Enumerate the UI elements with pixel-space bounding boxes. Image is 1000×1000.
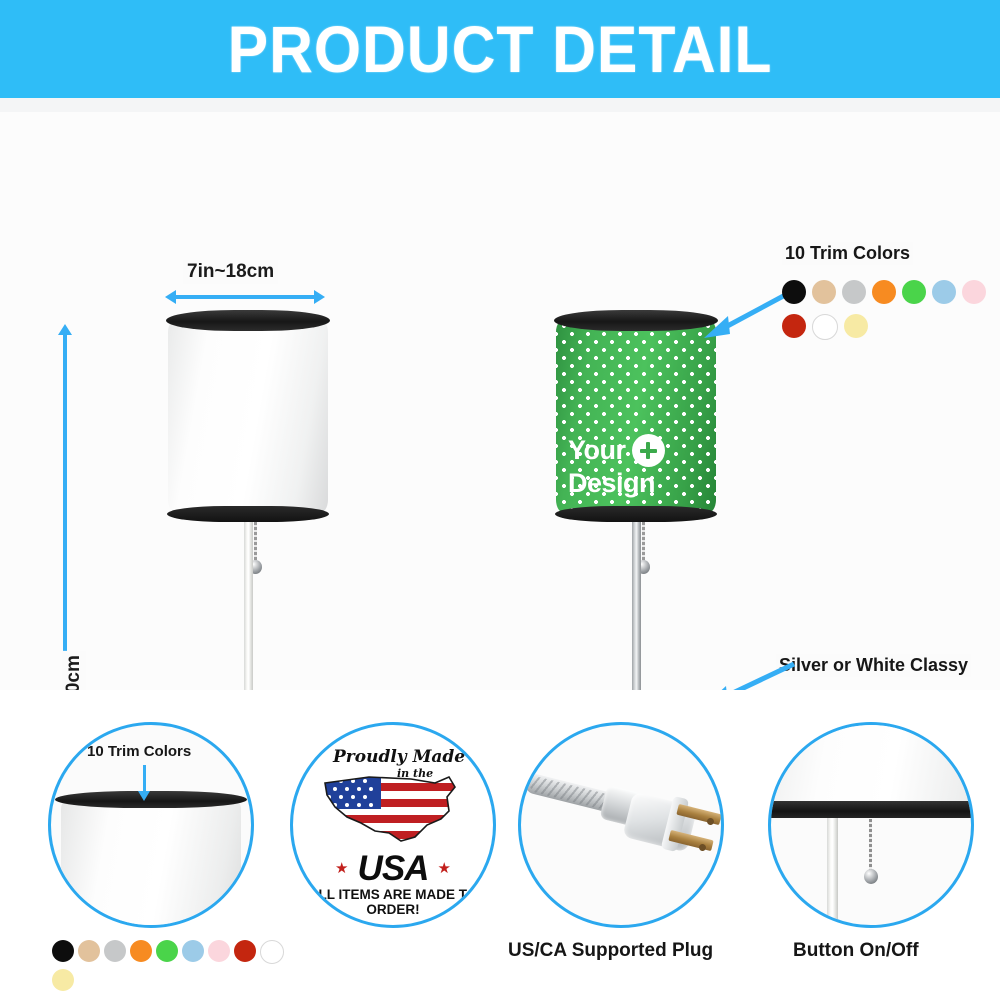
trim-swatch-pink[interactable]	[208, 940, 230, 962]
usa-flag-map-icon	[315, 767, 471, 851]
panel-shade-trim	[768, 801, 974, 818]
trim-swatch-light-blue[interactable]	[182, 940, 204, 962]
panel-shade-trim	[55, 791, 247, 808]
trim-swatch-gray[interactable]	[104, 940, 126, 962]
trim-swatch-light-blue[interactable]	[932, 280, 956, 304]
pull-chain	[642, 522, 645, 562]
lamp-pole	[244, 514, 253, 710]
green-lamp-shade: Your Design	[556, 308, 716, 520]
plus-icon	[632, 434, 665, 467]
button-panel	[768, 722, 974, 928]
your-design-placeholder: Your Design	[568, 434, 704, 497]
panel-pull-chain-ball	[864, 869, 878, 884]
width-dimension-arrow	[165, 290, 325, 304]
power-plug-icon	[521, 725, 721, 925]
usa-script-line1: Proudly Made	[333, 747, 465, 767]
usa-subtext: ALL ITEMS ARE MADE TO ORDER!	[293, 887, 493, 917]
trim-colors-label-top: 10 Trim Colors	[782, 242, 913, 265]
width-dimension-label: 7in~18cm	[183, 260, 278, 284]
trim-color-swatches-bottom[interactable]	[52, 940, 302, 996]
panel-shade-surface	[61, 797, 241, 928]
shade-surface	[168, 318, 328, 514]
usa-big-text: USA	[293, 849, 493, 889]
panel-lamp-pole	[827, 818, 838, 925]
trim-swatch-orange[interactable]	[872, 280, 896, 304]
trim-swatch-yellow[interactable]	[844, 314, 868, 338]
classy-label: Silver or White Classy	[776, 654, 971, 677]
trim-swatch-red[interactable]	[234, 940, 256, 962]
plug-cord-ribs	[528, 775, 611, 810]
trim-colors-panel: 10 Trim Colors	[48, 722, 254, 928]
trim-swatch-green[interactable]	[902, 280, 926, 304]
trim-swatch-tan[interactable]	[812, 280, 836, 304]
header-banner: PRODUCT DETAIL	[0, 0, 1000, 98]
panel-shade-surface	[768, 722, 974, 809]
page-title: PRODUCT DETAIL	[228, 11, 773, 87]
trim-swatch-yellow[interactable]	[52, 969, 74, 991]
trim-colors-label-panel: 10 Trim Colors	[87, 743, 191, 760]
trim-swatch-white[interactable]	[260, 940, 284, 964]
trim-swatch-tan[interactable]	[78, 940, 100, 962]
plug-panel	[518, 722, 724, 928]
plug-panel-caption: US/CA Supported Plug	[508, 940, 713, 962]
trim-swatch-green[interactable]	[156, 940, 178, 962]
panel-pull-chain	[869, 819, 872, 871]
trim-swatch-black[interactable]	[782, 280, 806, 304]
lamp-pole	[632, 514, 641, 710]
trim-swatch-orange[interactable]	[130, 940, 152, 962]
trim-colors-arrow-head	[138, 791, 150, 801]
shade-trim-bottom	[167, 506, 329, 522]
arrow-bar	[174, 295, 316, 299]
pull-switch-illustration	[771, 725, 971, 925]
height-dimension-arrow: 20in~50cm	[58, 324, 72, 742]
trim-swatch-white[interactable]	[812, 314, 838, 340]
arrow-right-head	[314, 290, 325, 304]
plug-prong-hole-bottom	[698, 843, 706, 851]
usa-badge: Proudly Made in the	[293, 725, 493, 925]
trim-colors-arrow-line	[143, 765, 146, 793]
shade-trim-bottom	[555, 506, 717, 522]
design-line-1: Your	[568, 434, 704, 467]
shade-trim-top	[554, 310, 718, 331]
trim-swatch-black[interactable]	[52, 940, 74, 962]
shade-trim-top	[166, 310, 330, 331]
trim-swatch-pink[interactable]	[962, 280, 986, 304]
design-word-your: Your	[568, 437, 626, 464]
pull-chain	[254, 522, 257, 562]
product-detail-page: PRODUCT DETAIL 7in~18cm 20in~50cm	[0, 0, 1000, 1000]
trim-color-swatches-top[interactable]	[782, 280, 1000, 346]
trim-swatch-gray[interactable]	[842, 280, 866, 304]
trim-swatch-red[interactable]	[782, 314, 806, 338]
shade-surface: Your Design	[556, 318, 716, 514]
made-in-usa-panel: Proudly Made in the	[290, 722, 496, 928]
button-panel-caption: Button On/Off	[793, 940, 919, 962]
star-right-icon: ★	[438, 859, 451, 877]
banner-underline	[0, 98, 1000, 112]
main-product-area: 7in~18cm 20in~50cm	[0, 112, 1000, 690]
design-word-design: Design	[568, 469, 704, 497]
plug-prong-hole-top	[706, 817, 714, 825]
white-lamp-shade	[168, 308, 328, 520]
